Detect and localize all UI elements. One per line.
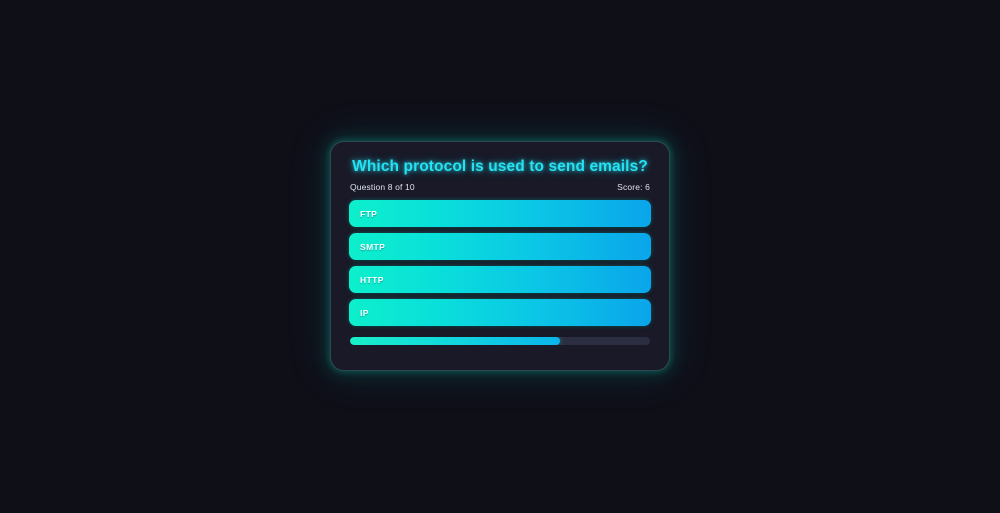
answer-option-label: FTP <box>360 209 377 219</box>
answer-option-http[interactable]: HTTP <box>349 266 651 293</box>
question-counter: Question 8 of 10 <box>350 182 415 192</box>
app-root: Which protocol is used to send emails? Q… <box>0 0 1000 513</box>
question-title: Which protocol is used to send emails? <box>349 158 651 176</box>
progress-bar-track <box>350 337 650 345</box>
answer-option-ftp[interactable]: FTP <box>349 200 651 227</box>
answer-option-smtp[interactable]: SMTP <box>349 233 651 260</box>
quiz-card: Which protocol is used to send emails? Q… <box>330 141 670 371</box>
quiz-meta-row: Question 8 of 10 Score: 6 <box>349 182 651 192</box>
answer-option-label: IP <box>360 308 369 318</box>
answer-option-label: SMTP <box>360 242 385 252</box>
score-display: Score: 6 <box>617 182 650 192</box>
answer-option-label: HTTP <box>360 275 384 285</box>
answer-option-ip[interactable]: IP <box>349 299 651 326</box>
progress-bar-fill <box>350 337 560 345</box>
answer-options-list: FTP SMTP HTTP IP <box>349 200 651 326</box>
progress-bar-container <box>349 337 651 345</box>
